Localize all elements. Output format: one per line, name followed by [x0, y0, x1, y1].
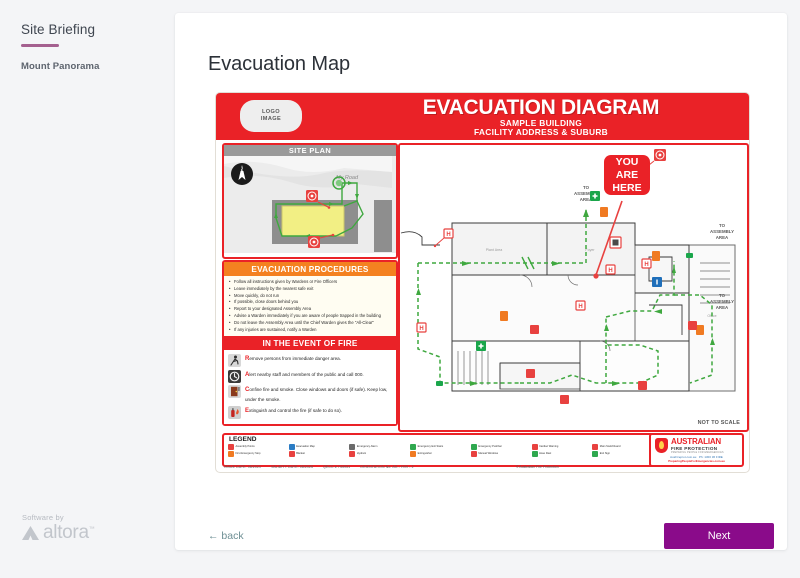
svg-text:ASSEMBLY: ASSEMBLY [710, 299, 734, 304]
page-title: Evacuation Map [208, 53, 350, 76]
site-plan-header: SITE PLAN [224, 145, 396, 156]
evacuation-procedures-list: Follow all instructions given by Wardens… [229, 279, 391, 333]
content-card: Evacuation Map LOGO IMAGE EVACUATION DIA… [175, 13, 787, 550]
site-plan-drawing: My Road [224, 156, 392, 253]
legend-item: Emergency Alarm [349, 444, 408, 450]
evacuation-procedures-panel: EVACUATION PROCEDURES Follow all instruc… [222, 260, 398, 426]
manual-windows-icon [471, 451, 477, 457]
legend-item: Extinguisher [410, 451, 469, 457]
legend-item: First Emergency Stop [228, 451, 287, 457]
svg-text:H: H [446, 232, 450, 238]
sidebar-title: Site Briefing [21, 22, 95, 37]
sidebar-title-underline [21, 44, 59, 47]
brand-prefix: Software by [22, 513, 152, 522]
evacuation-procedures-body: Follow all instructions given by Wardens… [224, 276, 396, 336]
issue-date: ISSUE DATE: 08/2021 [224, 465, 261, 469]
list-item: Follow all instructions given by Wardens… [229, 279, 391, 286]
svg-text:TO: TO [583, 185, 590, 190]
afp-tagline: PreparingPeopleForEmergencies.com.au [651, 459, 742, 463]
legend-item: Assembly Points [228, 444, 287, 450]
list-item: Extinguish and control the fire (if safe… [228, 406, 392, 419]
australian-fire-protection-logo: AUSTRALIAN FIRE PROTECTION PREPARING PEO… [649, 433, 744, 467]
you-are-here-line-3: HERE [612, 182, 641, 195]
list-item: Alert nearby staff and members of the pu… [228, 370, 392, 383]
list-item: Leave immediately by the nearest safe ex… [229, 286, 391, 293]
assembly-point-icon [228, 444, 234, 450]
sidebar-site-name: Mount Panorama [21, 61, 99, 72]
emergency-exit-stairs-icon [410, 444, 416, 450]
qecc-number: QECC # 744931 [323, 465, 350, 469]
svg-text:ASSEMBLY: ASSEMBLY [710, 229, 734, 234]
north-compass-icon: N [231, 163, 253, 185]
validity-date: VALIDITY DATE: 08/2026 [271, 465, 313, 469]
legend-item: Main Switchboard [592, 444, 651, 450]
orientation-number: ORIENTATION No: AG - HIVI - 2 [360, 465, 414, 469]
logo-line-1: LOGO [262, 109, 280, 116]
app-root: Site Briefing Mount Panorama Software by… [0, 0, 800, 578]
altora-brand: Software by altora™ [22, 513, 152, 542]
diagram-address: FACILITY ADDRESS & SUBURB [336, 127, 746, 137]
diagram-logo-placeholder: LOGO IMAGE [240, 100, 302, 132]
svg-text:AREA: AREA [716, 305, 729, 310]
legend-item: Blanket [289, 451, 348, 457]
main-switchboard-icon [592, 444, 598, 450]
floor-plan-drawing: Plant Area Foyer Office Corridor [400, 145, 743, 426]
svg-text:AREA: AREA [716, 235, 729, 240]
person-running-icon [228, 354, 241, 367]
list-item: Advise a Warden immediately if you are a… [229, 313, 391, 320]
diagram-footer-meta: ISSUE DATE: 08/2021 VALIDITY DATE: 08/20… [224, 465, 684, 469]
in-event-of-fire-body: Remove persons from immediate danger are… [224, 350, 396, 424]
legend-item: Hose Reel [532, 451, 591, 457]
cardiac-warning-icon [532, 444, 538, 450]
in-event-of-fire-header: IN THE EVENT OF FIRE [224, 336, 396, 350]
sidebar: Site Briefing Mount Panorama Software by… [0, 0, 175, 578]
legend-item: Manual Windows [471, 451, 530, 457]
not-to-scale-label: NOT TO SCALE [698, 420, 740, 426]
svg-text:H: H [578, 304, 582, 310]
svg-text:TO: TO [719, 293, 726, 298]
close-door-icon [228, 385, 241, 398]
brand-tm: ™ [89, 527, 95, 533]
svg-text:Foyer: Foyer [585, 248, 595, 252]
diagram-title: EVACUATION DIAGRAM [336, 96, 746, 120]
you-are-here-marker: YOU ARE HERE [604, 155, 650, 195]
legend-title: LEGEND [229, 436, 256, 443]
list-item: If any injuries are sustained, notify a … [229, 327, 391, 334]
svg-text:Plant Area: Plant Area [486, 248, 503, 252]
in-event-of-fire-panel: IN THE EVENT OF FIRE Remove persons from… [224, 336, 396, 424]
fire-step-text: Remove persons from immediate danger are… [245, 354, 341, 365]
diagram-header-band: LOGO IMAGE EVACUATION DIAGRAM SAMPLE BUI… [216, 93, 749, 140]
svg-text:H: H [608, 268, 612, 274]
afp-shield-icon [655, 438, 668, 453]
evacuation-map-icon [289, 444, 295, 450]
fire-step-text: Confine fire and smoke. Close windows an… [245, 385, 392, 403]
first-emergency-stop-icon [228, 451, 234, 457]
you-are-here-line-1: YOU [616, 156, 639, 169]
svg-text:N: N [240, 167, 244, 173]
legend-panel: LEGEND Assembly Points Evacuation Map Em… [222, 433, 656, 467]
legend-item: Hydrant [349, 451, 408, 457]
extinguisher-icon [410, 451, 416, 457]
hose-reel-icon [532, 451, 538, 457]
exit-sign-icon [592, 451, 598, 457]
list-item: If possible, close doors behind you [229, 299, 391, 306]
svg-text:TO: TO [719, 223, 726, 228]
legend-grid: Assembly Points Evacuation Map Emergency… [228, 444, 651, 457]
logo-line-2: IMAGE [261, 116, 281, 123]
list-item: Remove persons from immediate danger are… [228, 354, 392, 367]
extinguisher-flame-icon [228, 406, 241, 419]
fire-hydrant-icon [349, 451, 355, 457]
emergency-pushbar-icon [471, 444, 477, 450]
legend-item: Evacuation Map [289, 444, 348, 450]
site-plan-panel: SITE PLAN My Road [222, 143, 398, 259]
next-button[interactable]: Next [664, 523, 774, 549]
evacuation-diagram-image[interactable]: LOGO IMAGE EVACUATION DIAGRAM SAMPLE BUI… [215, 92, 750, 473]
brand-name: altora™ [43, 523, 94, 542]
afp-name-line-3: PREPARING PEOPLE FOR EMERGENCIES [671, 452, 724, 454]
diagram-left-column: SITE PLAN My Road [222, 143, 394, 428]
list-item: Report to your designated Assembly Area [229, 306, 391, 313]
svg-text:H: H [419, 326, 423, 332]
site-plan-body: My Road [224, 156, 396, 253]
legend-item: Emergency Pushbar [471, 444, 530, 450]
you-are-here-line-2: ARE [616, 169, 638, 182]
floor-plan-panel: Ground Floor [398, 143, 749, 432]
fire-step-text: Extinguish and control the fire (if safe… [245, 406, 342, 417]
list-item: Move quickly, do not run [229, 293, 391, 300]
list-item: Confine fire and smoke. Close windows an… [228, 385, 392, 403]
altora-logo-icon [22, 526, 39, 540]
evacuation-procedures-header: EVACUATION PROCEDURES [224, 262, 396, 276]
legend-item: Cardiac Warning [532, 444, 591, 450]
emergency-alarm-icon [349, 444, 355, 450]
svg-text:H: H [644, 262, 648, 268]
alarm-bell-icon [228, 370, 241, 383]
legend-item: Exit Sign [592, 451, 651, 457]
fire-blanket-icon [289, 451, 295, 457]
afp-name-line-1: AUSTRALIAN [671, 437, 724, 446]
diagram-copyright: © Australian Fire Protection [516, 465, 559, 469]
legend-item: Emergency Exit Stairs [410, 444, 469, 450]
list-item: Do not leave the Assembly Area until the… [229, 320, 391, 327]
back-link[interactable]: ← back [208, 530, 244, 542]
fire-step-text: Alert nearby staff and members of the pu… [245, 370, 364, 381]
